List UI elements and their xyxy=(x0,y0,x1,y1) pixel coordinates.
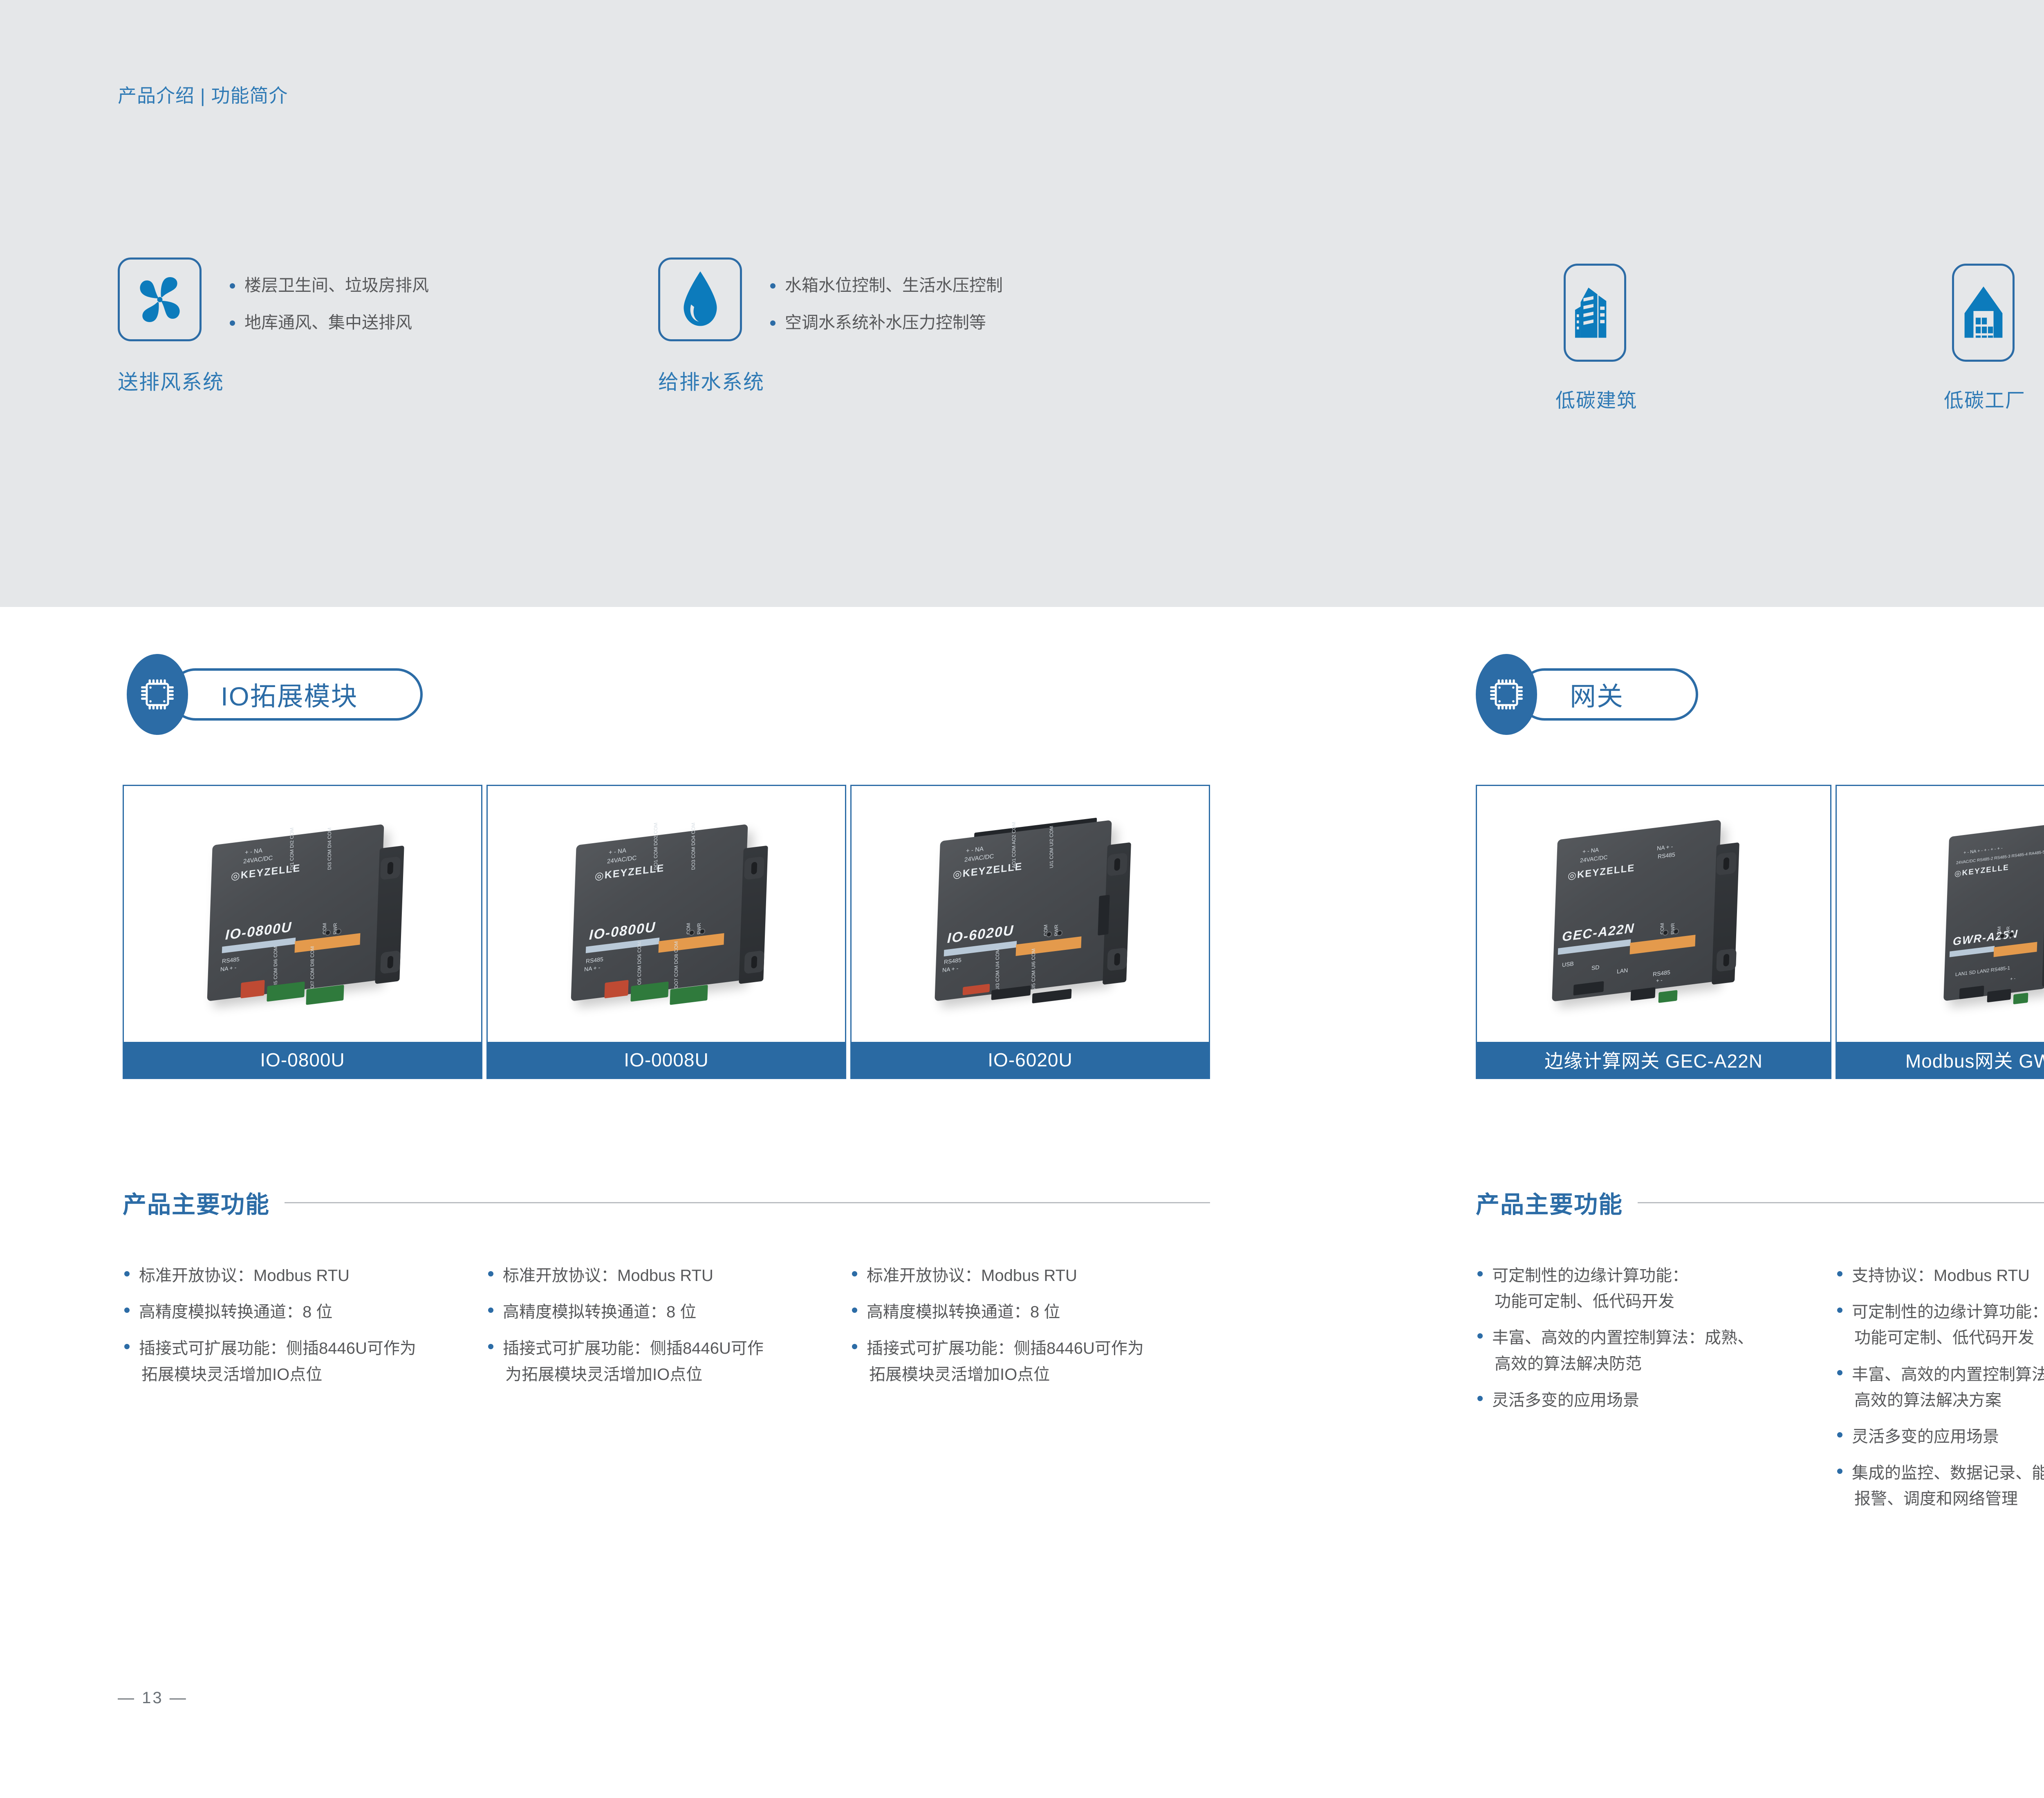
list-item: 可定制性的边缘计算功能： 功能可定制、低代码开发 xyxy=(1476,1263,1827,1314)
product-image: ◎KEYZELLE + - NA 24VAC/DC DO1 COM DO2 CO… xyxy=(488,786,845,1042)
list-item: 高精度模拟转换通道：8 位 xyxy=(850,1299,1218,1325)
application-system-water: 给排水系统 水箱水位控制、生活水压控制 空调水系统补水压力控制等 xyxy=(658,257,764,395)
feature-line: 丰富、高效的内置控制算法：成熟、 xyxy=(1492,1329,1754,1347)
office-building-icon xyxy=(1572,282,1618,343)
feature-line: 支持协议：Modbus RTU xyxy=(1852,1267,2030,1285)
scenario-low-carbon-building: 低碳建筑 xyxy=(1564,264,1626,413)
features-heading-text: 产品主要功能 xyxy=(1476,1185,1623,1220)
feature-column-io-2: 标准开放协议：Modbus RTU 高精度模拟转换通道：8 位 插接式可扩展功能… xyxy=(486,1263,842,1398)
list-item: 水箱水位控制、生活水压控制 xyxy=(768,277,1003,294)
office-building-icon-frame xyxy=(1564,264,1626,362)
factory-icon xyxy=(1961,282,2006,343)
product-card[interactable]: ◎KEYZELLE + - NA 24VAC/DC NA + - RS485 G… xyxy=(1476,785,1831,1079)
list-item: 支持协议：Modbus RTU xyxy=(1836,1263,2044,1289)
list-item: 灵活多变的应用场景 xyxy=(1476,1388,1827,1413)
fan-system-caption: 送排风系统 xyxy=(118,366,224,395)
feature-line: 高精度模拟转换通道：8 位 xyxy=(139,1303,332,1321)
product-card[interactable]: ◎KEYZELLE + - NA 24VAC/DC DO1 COM DO2 CO… xyxy=(486,785,846,1079)
list-item: 灵活多变的应用场景 xyxy=(1836,1424,2044,1450)
product-card[interactable]: ◎KEYZELLE + - NA 24VAC/DC AO1 COM AO2 CO… xyxy=(850,785,1210,1079)
feature-line: 可定制性的边缘计算功能： xyxy=(1492,1267,1688,1285)
feature-line: 插接式可扩展功能：侧插8446U可作为 xyxy=(139,1339,416,1357)
product-image: ◎KEYZELLE + - NA 24VAC/DC NA + - RS485 G… xyxy=(1477,786,1830,1042)
product-label: IO-0008U xyxy=(488,1042,845,1078)
product-image: ◎KEYZELLE + - NA 24VAC/DC DI1 COM DI2 CO… xyxy=(124,786,481,1042)
heading-rule xyxy=(285,1202,1210,1203)
section-title-pill: IO拓展模块 xyxy=(169,668,423,721)
section-header-io-modules: IO拓展模块 xyxy=(127,654,423,735)
list-item: 地库通风、集中送排风 xyxy=(227,314,429,331)
section-title: 网关 xyxy=(1570,676,1624,713)
product-label: IO-6020U xyxy=(852,1042,1209,1078)
feature-column-io-1: 标准开放协议：Modbus RTU 高精度模拟转换通道：8 位 插接式可扩展功能… xyxy=(123,1263,478,1398)
feature-column-io-3: 标准开放协议：Modbus RTU 高精度模拟转换通道：8 位 插接式可扩展功能… xyxy=(850,1263,1218,1398)
feature-line: 插接式可扩展功能：侧插8446U可作为 xyxy=(867,1339,1144,1357)
product-label: IO-0800U xyxy=(124,1042,481,1078)
factory-icon-frame xyxy=(1952,264,2015,362)
feature-line: 高精度模拟转换通道：8 位 xyxy=(867,1303,1060,1321)
feature-line: 拓展模块灵活增加IO点位 xyxy=(139,1362,478,1388)
fan-icon xyxy=(131,271,188,328)
feature-line: 标准开放协议：Modbus RTU xyxy=(503,1267,713,1285)
features-heading-io: 产品主要功能 xyxy=(123,1185,1210,1220)
feature-line: 集成的监控、数据记录、能耗计量、 xyxy=(1852,1464,2044,1482)
running-head-left: 产品介绍 | 功能简介 xyxy=(118,81,288,108)
feature-line: 高效的算法解决防范 xyxy=(1492,1351,1827,1377)
feature-line: 丰富、高效的内置控制算法：成熟、 xyxy=(1852,1366,2044,1384)
list-item: 标准开放协议：Modbus RTU xyxy=(850,1263,1218,1289)
section-title: IO拓展模块 xyxy=(221,676,358,713)
feature-line: 高精度模拟转换通道：8 位 xyxy=(503,1303,696,1321)
list-item: 楼层卫生间、垃圾房排风 xyxy=(227,277,429,294)
chip-icon xyxy=(1488,676,1525,713)
application-system-fan: 送排风系统 楼层卫生间、垃圾房排风 地库通风、集中送排风 xyxy=(118,257,224,395)
feature-line: 灵活多变的应用场景 xyxy=(1852,1428,1999,1446)
feature-line: 拓展模块灵活增加IO点位 xyxy=(867,1362,1218,1388)
section-title-pill: 网关 xyxy=(1518,668,1698,721)
product-label: Modbus网关 GWR-A25N xyxy=(1837,1042,2044,1078)
brochure-spread: 产品介绍 | 功能简介 产品介绍 | 功能简介 送排风系统 楼层卫生间、垃圾房排… xyxy=(0,0,2044,1798)
feature-line: 可定制性的边缘计算功能： xyxy=(1852,1303,2044,1321)
page-number-left: — 13 — xyxy=(118,1689,188,1707)
list-item: 标准开放协议：Modbus RTU xyxy=(123,1263,478,1289)
feature-line: 功能可定制、低代码开发 xyxy=(1852,1325,2044,1351)
feature-line: 为拓展模块灵活增加IO点位 xyxy=(503,1362,842,1388)
list-item: 集成的监控、数据记录、能耗计量、 报警、调度和网络管理 xyxy=(1836,1460,2044,1512)
water-drop-icon-frame xyxy=(658,257,742,341)
product-image: ◎KEYZELLE + - NA 24VAC/DC AO1 COM AO2 CO… xyxy=(852,786,1209,1042)
product-image: ◎KEYZELLE + - NA + - + - + - + - 24VAC/D… xyxy=(1837,786,2044,1042)
product-card[interactable]: ◎KEYZELLE + - NA + - + - + - + - 24VAC/D… xyxy=(1836,785,2044,1079)
scenario-caption: 低碳建筑 xyxy=(1555,384,1618,413)
product-card[interactable]: ◎KEYZELLE + - NA 24VAC/DC DI1 COM DI2 CO… xyxy=(123,785,482,1079)
list-item: 插接式可扩展功能：侧插8446U可作为 拓展模块灵活增加IO点位 xyxy=(123,1336,478,1387)
feature-line: 插接式可扩展功能：侧插8446U可作 xyxy=(503,1339,764,1357)
list-item: 插接式可扩展功能：侧插8446U可作为 拓展模块灵活增加IO点位 xyxy=(850,1336,1218,1387)
water-drop-icon xyxy=(674,269,726,330)
list-item: 丰富、高效的内置控制算法：成熟、 高效的算法解决方案 xyxy=(1836,1362,2044,1413)
feature-column-gw-1: 可定制性的边缘计算功能： 功能可定制、低代码开发 丰富、高效的内置控制算法：成熟… xyxy=(1476,1263,1827,1424)
list-item: 高精度模拟转换通道：8 位 xyxy=(486,1299,842,1325)
heading-rule xyxy=(1638,1202,2044,1203)
chip-icon-badge xyxy=(1476,654,1537,735)
feature-line: 功能可定制、低代码开发 xyxy=(1492,1289,1827,1314)
features-heading-text: 产品主要功能 xyxy=(123,1185,270,1220)
product-label: 边缘计算网关 GEC-A22N xyxy=(1477,1042,1830,1078)
scenario-caption: 低碳工厂 xyxy=(1944,384,2006,413)
fan-icon-frame xyxy=(118,257,202,341)
feature-line: 高效的算法解决方案 xyxy=(1852,1388,2044,1413)
feature-line: 报警、调度和网络管理 xyxy=(1852,1486,2044,1512)
water-system-caption: 给排水系统 xyxy=(658,366,764,395)
feature-line: 灵活多变的应用场景 xyxy=(1492,1391,1639,1409)
feature-line: 标准开放协议：Modbus RTU xyxy=(867,1267,1077,1285)
list-item: 标准开放协议：Modbus RTU xyxy=(486,1263,842,1289)
list-item: 丰富、高效的内置控制算法：成熟、 高效的算法解决防范 xyxy=(1476,1325,1827,1377)
scenario-low-carbon-factory: 低碳工厂 xyxy=(1952,264,2015,413)
section-header-gateways: 网关 xyxy=(1476,654,1698,735)
water-system-bullets: 水箱水位控制、生活水压控制 空调水系统补水压力控制等 xyxy=(768,277,1003,352)
chip-icon xyxy=(139,676,176,713)
list-item: 可定制性的边缘计算功能： 功能可定制、低代码开发 xyxy=(1836,1299,2044,1351)
list-item: 空调水系统补水压力控制等 xyxy=(768,314,1003,331)
list-item: 高精度模拟转换通道：8 位 xyxy=(123,1299,478,1325)
fan-system-bullets: 楼层卫生间、垃圾房排风 地库通风、集中送排风 xyxy=(227,277,429,352)
list-item: 插接式可扩展功能：侧插8446U可作 为拓展模块灵活增加IO点位 xyxy=(486,1336,842,1387)
feature-column-gw-2: 支持协议：Modbus RTU 可定制性的边缘计算功能： 功能可定制、低代码开发… xyxy=(1836,1263,2044,1523)
chip-icon-badge xyxy=(127,654,188,735)
feature-line: 标准开放协议：Modbus RTU xyxy=(139,1267,350,1285)
features-heading-gateways: 产品主要功能 xyxy=(1476,1185,2044,1220)
